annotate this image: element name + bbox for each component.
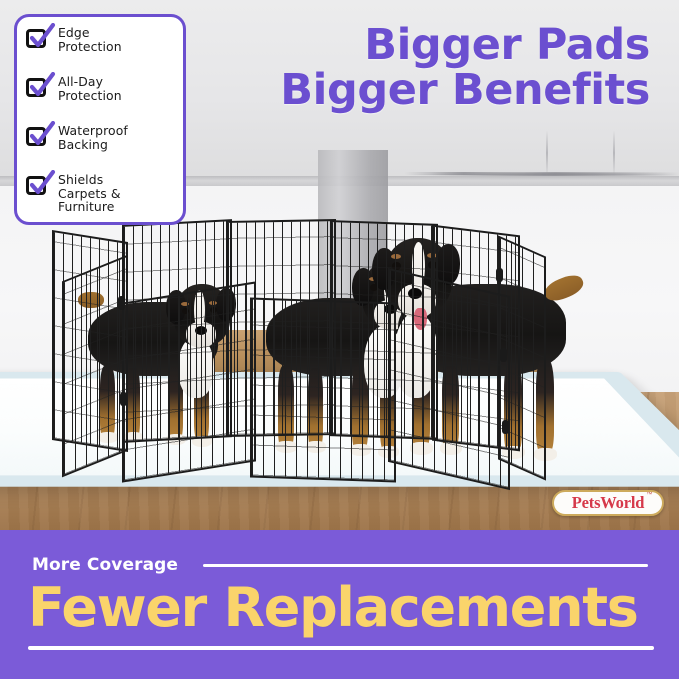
banner-kicker: More Coverage	[32, 555, 178, 575]
checkbox-checked-icon	[26, 174, 49, 197]
checkbox-checked-icon	[26, 27, 49, 50]
bottom-banner: More Coverage Fewer Replacements	[0, 530, 679, 679]
headline-line-1: Bigger Pads	[364, 20, 650, 70]
feature-label: Waterproof Backing	[58, 124, 128, 151]
feature-item-waterproof-backing: Waterproof Backing	[26, 124, 175, 151]
feature-checklist-card: Edge Protection All-Day Protection	[14, 14, 186, 225]
checkbox-checked-icon	[26, 125, 49, 148]
playpen-hinge	[120, 392, 127, 406]
brand-logo: PetsWorld ™	[552, 490, 664, 516]
product-advertisement: Bigger Pads Bigger Benefits Edge Protect…	[0, 0, 679, 679]
playpen-panel	[122, 281, 256, 482]
trademark-symbol: ™	[646, 492, 652, 498]
headline-line-2: Bigger Benefits	[280, 68, 650, 113]
feature-item-all-day-protection: All-Day Protection	[26, 75, 175, 102]
checkbox-checked-icon	[26, 76, 49, 99]
banner-headline: Fewer Replacements	[28, 578, 654, 638]
banner-bottom-rule	[28, 646, 654, 650]
feature-label: Edge Protection	[58, 26, 122, 53]
banner-kicker-row: More Coverage	[32, 555, 648, 575]
playpen-hinge	[118, 296, 125, 310]
product-photo-scene: Bigger Pads Bigger Benefits Edge Protect…	[0, 0, 679, 530]
feature-item-shields-carpets-furniture: Shields Carpets & Furniture	[26, 173, 175, 214]
brand-logo-text: PetsWorld ™	[572, 493, 644, 513]
banner-divider-rule	[203, 564, 648, 567]
playpen-hinge	[496, 268, 503, 282]
feature-item-edge-protection: Edge Protection	[26, 26, 175, 53]
playpen-hinge	[502, 420, 509, 434]
brand-name: PetsWorld	[572, 493, 644, 512]
playpen-panel	[250, 297, 396, 482]
feature-label: Shields Carpets & Furniture	[58, 173, 121, 214]
headline: Bigger Pads Bigger Benefits	[280, 23, 650, 113]
playpen-panel	[62, 255, 128, 478]
playpen-panel	[388, 268, 510, 490]
feature-label: All-Day Protection	[58, 75, 122, 102]
playpen-hinge	[500, 348, 507, 362]
